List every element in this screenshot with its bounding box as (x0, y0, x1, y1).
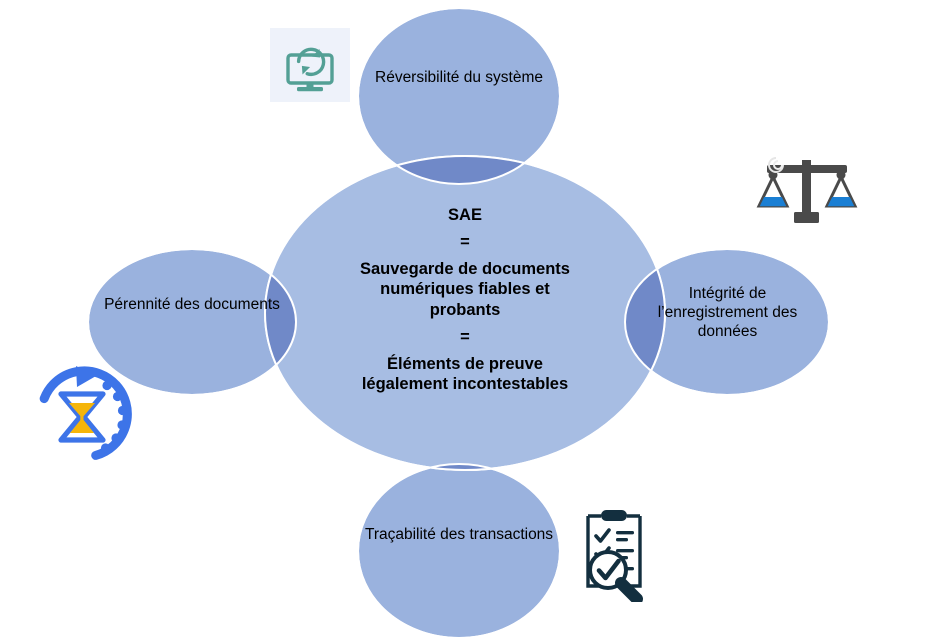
scales-of-justice-icon (756, 150, 858, 230)
venn-circles-group (0, 0, 939, 639)
hourglass-clock-icon (28, 363, 134, 467)
central-circle[interactable] (265, 156, 665, 470)
diagram-canvas: Réversibilité du système Pérennité des d… (0, 0, 939, 639)
clipboard-checklist-magnifier-icon (572, 502, 658, 602)
clipboard-checklist-magnifier-icon-container (572, 502, 658, 602)
hourglass-clock-icon-container (28, 363, 134, 467)
monitor-refresh-icon (270, 28, 350, 102)
scales-of-justice-icon-container (756, 150, 858, 230)
monitor-refresh-icon-container (270, 28, 350, 102)
